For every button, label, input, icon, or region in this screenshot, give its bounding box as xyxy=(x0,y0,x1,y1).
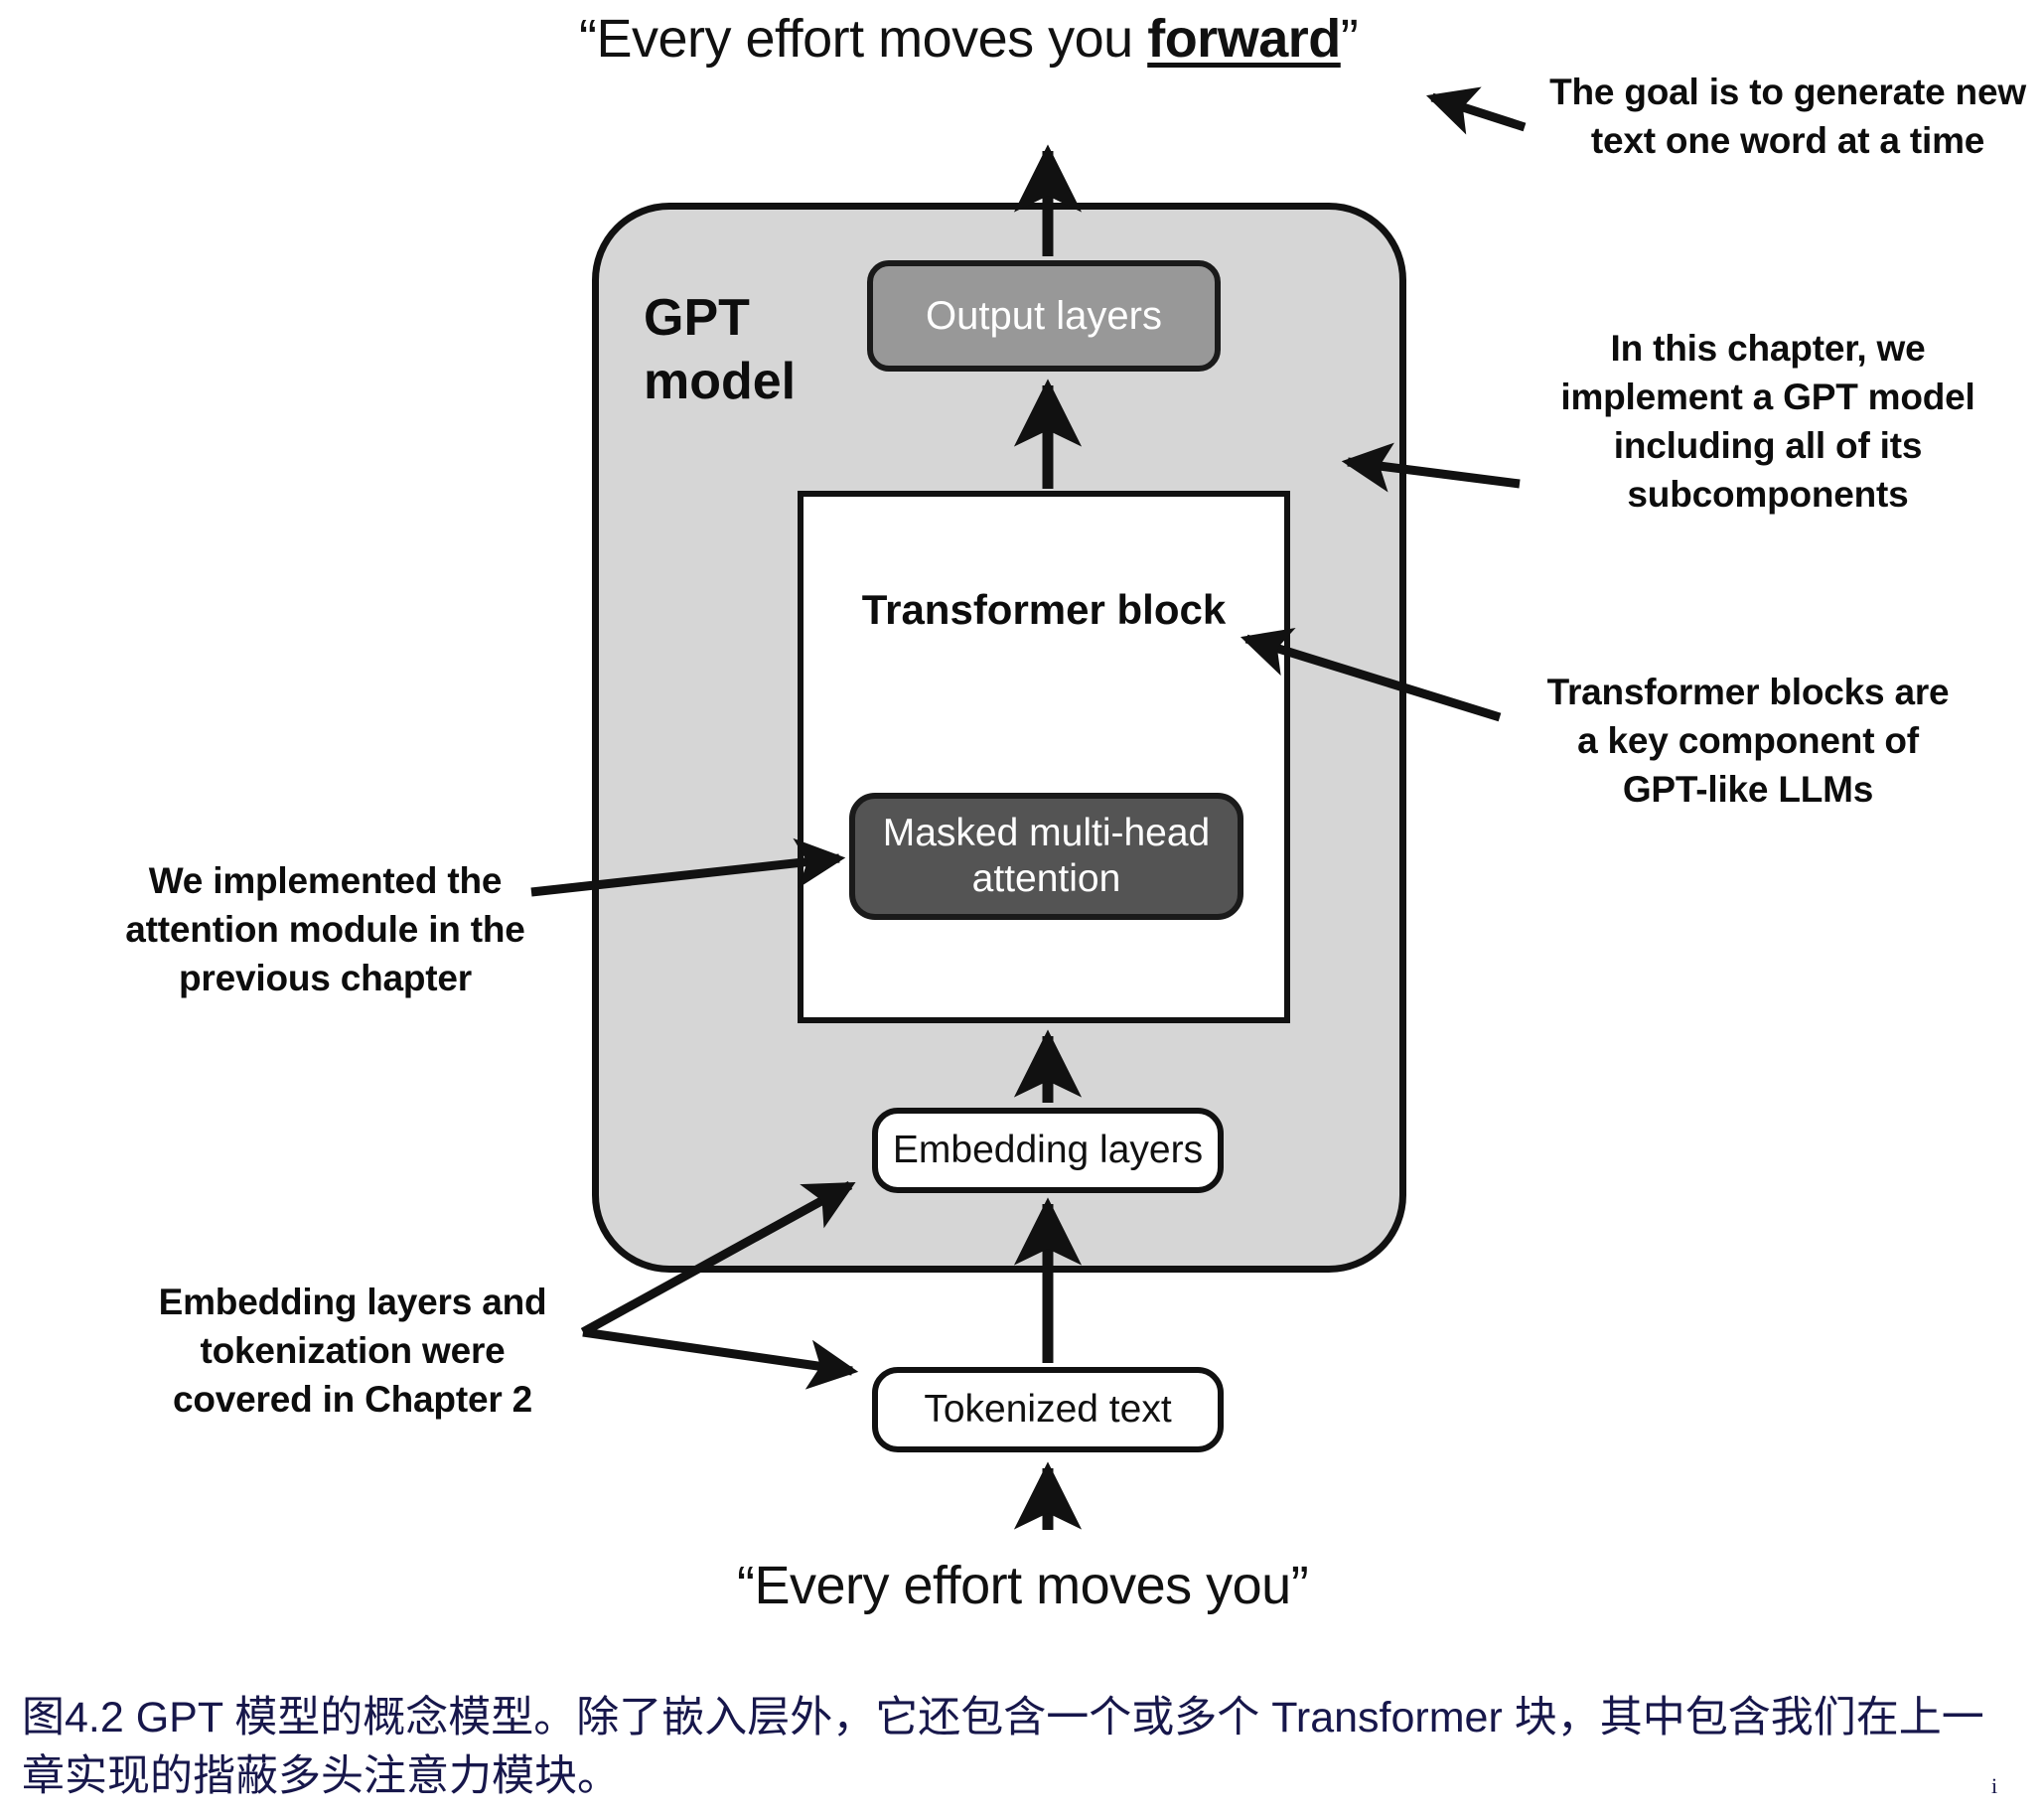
page-marker: i xyxy=(1991,1773,1997,1799)
tokenized-text-box: Tokenized text xyxy=(872,1367,1224,1452)
annotation-chapter: In this chapter, we implement a GPT mode… xyxy=(1530,324,2006,519)
callout-arrow-tokenization xyxy=(583,1332,852,1371)
output-quote-prefix: “Every effort moves you xyxy=(579,9,1147,69)
output-layers-box: Output layers xyxy=(867,260,1221,372)
annotation-attention-prev-line3: previous chapter xyxy=(99,954,551,1002)
embedding-layers-label: Embedding layers xyxy=(893,1129,1203,1172)
masked-attention-label-line1: Masked multi-head xyxy=(883,812,1210,854)
annotation-blocks-key-line2: a key component of xyxy=(1510,716,1986,765)
annotation-blocks-key-line3: GPT-like LLMs xyxy=(1510,765,1986,814)
embedding-layers-box: Embedding layers xyxy=(872,1108,1224,1193)
annotation-goal-line1: The goal is to generate new xyxy=(1549,68,2026,116)
masked-attention-label-line2: attention xyxy=(972,857,1121,900)
output-quote-emphasis: forward xyxy=(1147,9,1341,69)
annotation-embedding-ch2-line1: Embedding layers and xyxy=(139,1278,566,1326)
annotation-chapter-line3: including all of its xyxy=(1530,421,2006,470)
annotation-goal-line2: text one word at a time xyxy=(1549,116,2026,165)
annotation-blocks-key-line1: Transformer blocks are xyxy=(1510,668,1986,716)
output-text-quote: “Every effort moves you forward” xyxy=(579,8,1358,70)
annotation-chapter-line2: implement a GPT model xyxy=(1530,373,2006,421)
annotation-embedding-ch2-line3: covered in Chapter 2 xyxy=(139,1375,566,1424)
tokenized-text-label: Tokenized text xyxy=(924,1388,1171,1432)
annotation-goal: The goal is to generate new text one wor… xyxy=(1549,68,2026,165)
annotation-embedding-ch2: Embedding layers and tokenization were c… xyxy=(139,1278,566,1424)
masked-attention-label: Masked multi-head attention xyxy=(883,811,1210,902)
gpt-model-label-line2: model xyxy=(644,350,872,413)
annotation-embedding-ch2-line2: tokenization were xyxy=(139,1326,566,1375)
annotation-attention-prev: We implemented the attention module in t… xyxy=(99,856,551,1002)
annotation-chapter-line4: subcomponents xyxy=(1530,470,2006,519)
transformer-block-box xyxy=(798,491,1290,1023)
output-layers-label: Output layers xyxy=(926,294,1162,339)
figure-caption-line2: 章实现的揩蔽多头注意力模块。 xyxy=(22,1747,2008,1806)
masked-attention-box: Masked multi-head attention xyxy=(849,793,1243,920)
annotation-attention-prev-line1: We implemented the xyxy=(99,856,551,905)
output-quote-suffix: ” xyxy=(1341,9,1358,69)
figure-caption-line1: 图4.2 GPT 模型的概念模型。除了嵌入层外，它还包含一个或多个 Transf… xyxy=(22,1689,2008,1747)
annotation-blocks-key: Transformer blocks are a key component o… xyxy=(1510,668,1986,814)
figure-caption: 图4.2 GPT 模型的概念模型。除了嵌入层外，它还包含一个或多个 Transf… xyxy=(22,1689,2008,1806)
callout-arrow-goal xyxy=(1432,97,1525,127)
gpt-model-label: GPT model xyxy=(644,286,872,413)
annotation-attention-prev-line2: attention module in the xyxy=(99,905,551,954)
transformer-block-label: Transformer block xyxy=(798,586,1290,634)
input-text-quote: “Every effort moves you” xyxy=(737,1555,1308,1616)
annotation-chapter-line1: In this chapter, we xyxy=(1530,324,2006,373)
gpt-model-label-line1: GPT xyxy=(644,286,872,350)
